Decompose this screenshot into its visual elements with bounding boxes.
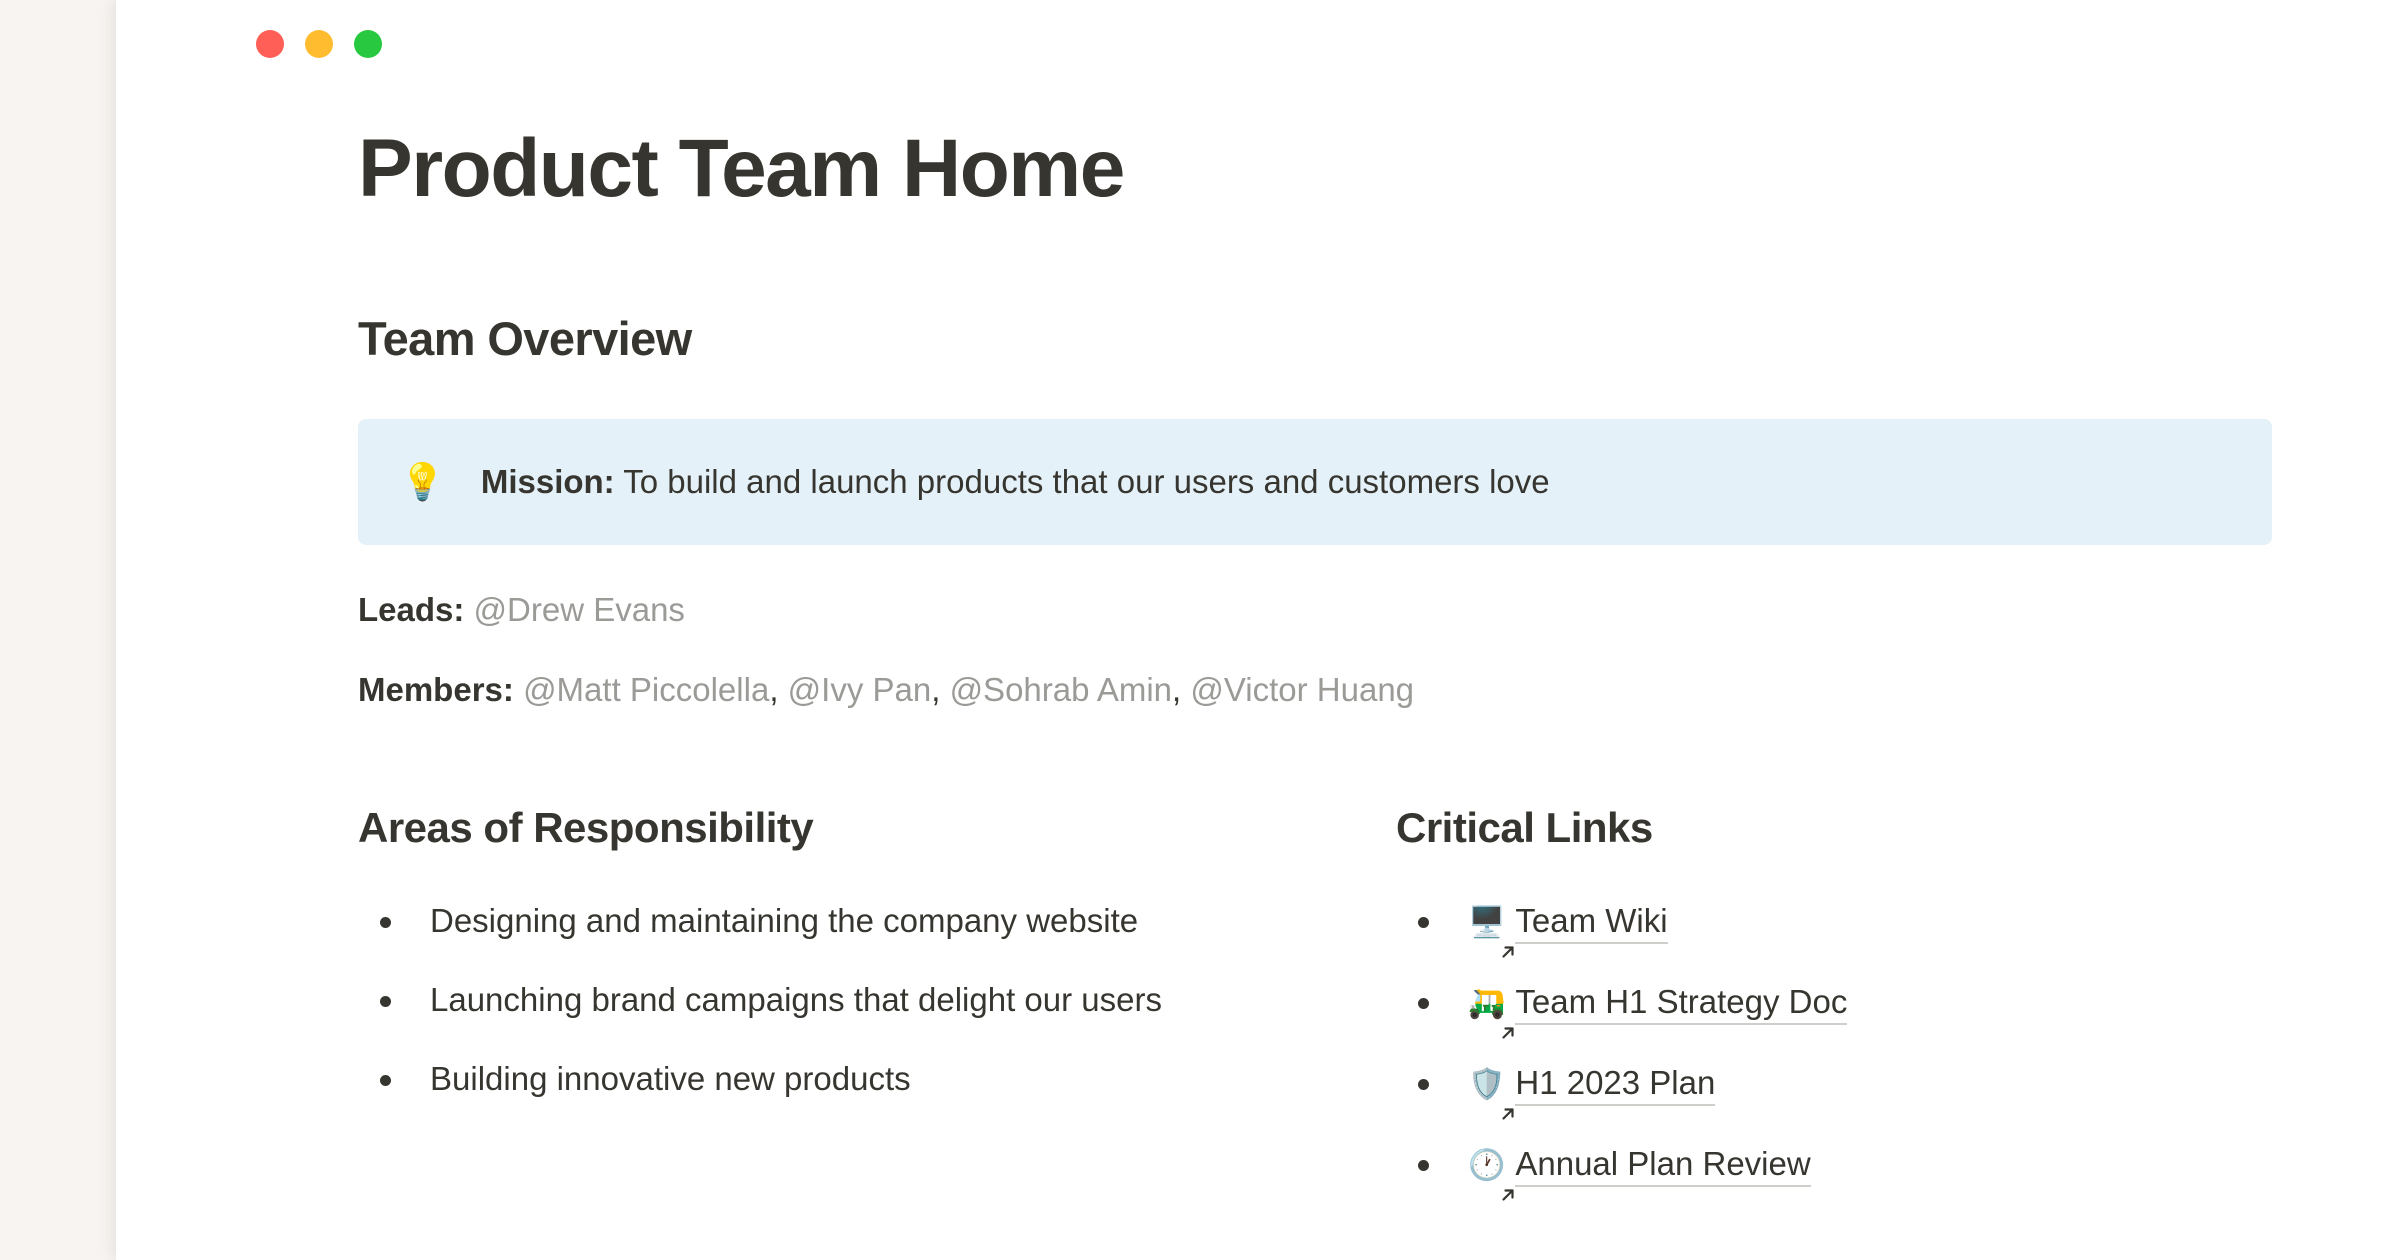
minimize-window-button[interactable] — [305, 30, 333, 58]
document-surface: Product Team Home Team Overview 💡 Missio… — [116, 0, 2400, 1260]
mention-matt-piccolella[interactable]: @Matt Piccolella — [523, 671, 769, 708]
leads-label: Leads: — [358, 591, 464, 628]
emoji-glyph: 🛺 — [1468, 987, 1505, 1020]
column-critical-links: Critical Links 🖥️Team Wiki 🛺Team H1 Stra… — [1396, 805, 2272, 1213]
page-title[interactable]: Product Team Home — [358, 128, 2272, 210]
close-window-button[interactable] — [256, 30, 284, 58]
clock-emoji: 🕐 — [1468, 1135, 1505, 1196]
column-areas-of-responsibility: Areas of Responsibility Designing and ma… — [358, 805, 1396, 1213]
list-item[interactable]: Building innovative new products — [358, 1048, 1168, 1109]
list-item: 🛡️H1 2023 Plan — [1396, 1052, 2272, 1115]
mission-callout[interactable]: 💡 Mission: To build and launch products … — [358, 419, 2272, 545]
responsibility-list: Designing and maintaining the company we… — [358, 890, 1396, 1109]
leads-line: Leads: @Drew Evans — [358, 587, 2272, 633]
mention-separator: , — [931, 671, 949, 708]
sidebar-rail — [0, 0, 116, 1260]
mission-text: To build and launch products that our us… — [615, 463, 1550, 500]
column-heading-areas-of-responsibility[interactable]: Areas of Responsibility — [358, 805, 1396, 851]
external-link-arrow-icon — [1498, 1023, 1518, 1043]
mention-victor-huang[interactable]: @Victor Huang — [1190, 671, 1414, 708]
members-label: Members: — [358, 671, 514, 708]
link-team-wiki[interactable]: Team Wiki — [1515, 902, 1667, 944]
external-link-arrow-icon — [1498, 1185, 1518, 1205]
emoji-glyph: 🛡️ — [1468, 1068, 1505, 1101]
app-window: Product Team Home Team Overview 💡 Missio… — [0, 0, 2400, 1260]
link-h1-2023-plan[interactable]: H1 2023 Plan — [1515, 1064, 1715, 1106]
list-item[interactable]: Designing and maintaining the company we… — [358, 890, 1168, 951]
link-team-h1-strategy-doc[interactable]: Team H1 Strategy Doc — [1515, 983, 1847, 1025]
emoji-glyph: 🖥️ — [1468, 906, 1505, 939]
mention-sohrab-amin[interactable]: @Sohrab Amin — [950, 671, 1172, 708]
auto-rickshaw-emoji: 🛺 — [1468, 973, 1505, 1034]
external-link-arrow-icon — [1498, 1104, 1518, 1124]
critical-links-list: 🖥️Team Wiki 🛺Team H1 Strategy Doc 🛡️H1 2… — [1396, 890, 2272, 1196]
shield-emoji: 🛡️ — [1468, 1054, 1505, 1115]
list-item[interactable]: Launching brand campaigns that delight o… — [358, 969, 1168, 1030]
emoji-glyph: 🕐 — [1468, 1149, 1505, 1182]
list-item: 🕐Annual Plan Review — [1396, 1133, 2272, 1196]
document-content: Product Team Home Team Overview 💡 Missio… — [358, 0, 2272, 1214]
two-column-section: Areas of Responsibility Designing and ma… — [358, 805, 2272, 1213]
desktop-computer-emoji: 🖥️ — [1468, 892, 1505, 953]
mention-ivy-pan[interactable]: @Ivy Pan — [788, 671, 932, 708]
mission-callout-text: Mission: To build and launch products th… — [481, 459, 1550, 505]
mention-separator: , — [1172, 671, 1190, 708]
external-link-arrow-icon — [1498, 942, 1518, 962]
list-item: 🛺Team H1 Strategy Doc — [1396, 971, 2272, 1034]
mention-drew-evans[interactable]: @Drew Evans — [474, 591, 685, 628]
list-item: 🖥️Team Wiki — [1396, 890, 2272, 953]
column-heading-critical-links[interactable]: Critical Links — [1396, 805, 2272, 851]
link-annual-plan-review[interactable]: Annual Plan Review — [1515, 1145, 1810, 1187]
mission-label: Mission: — [481, 463, 615, 500]
section-heading-team-overview[interactable]: Team Overview — [358, 314, 2272, 363]
members-line: Members: @Matt Piccolella, @Ivy Pan, @So… — [358, 667, 2272, 713]
light-bulb-emoji: 💡 — [400, 459, 445, 505]
mention-separator: , — [769, 671, 787, 708]
